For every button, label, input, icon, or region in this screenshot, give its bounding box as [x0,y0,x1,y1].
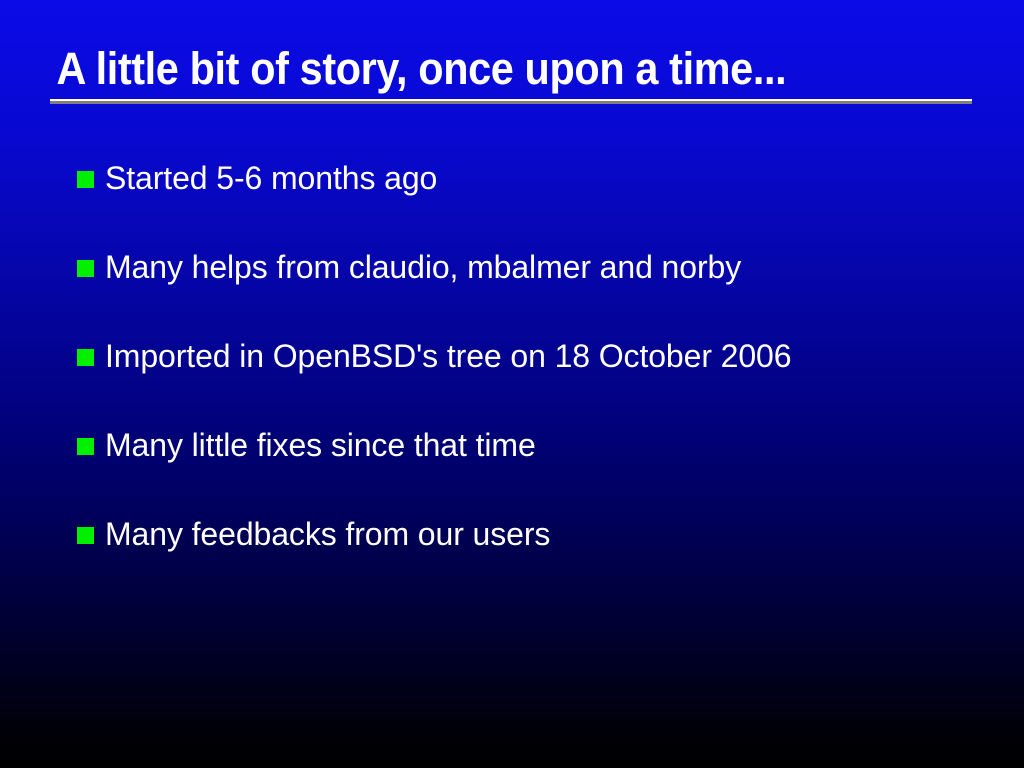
square-bullet-icon [77,349,94,366]
bullet-item-label: Many helps from claudio, mbalmer and nor… [105,249,977,285]
square-bullet-icon [77,260,94,277]
square-bullet-icon [77,171,94,188]
list-item: Imported in OpenBSD's tree on 18 October… [77,338,977,427]
list-item: Many feedbacks from our users [77,516,977,605]
square-bullet-icon [77,527,94,544]
slide-title: A little bit of story, once upon a time.… [50,44,898,94]
list-item: Many helps from claudio, mbalmer and nor… [77,249,977,338]
slide-title-block: A little bit of story, once upon a time.… [50,44,972,94]
title-underline-rule [50,99,972,104]
bullet-item-label: Many little fixes since that time [105,427,977,463]
presentation-slide: A little bit of story, once upon a time.… [0,0,1024,768]
bullet-item-label: Many feedbacks from our users [105,516,977,552]
list-item: Many little fixes since that time [77,427,977,516]
bullet-item-label: Started 5-6 months ago [105,160,977,196]
rule-shadow-line [50,101,972,104]
square-bullet-icon [77,438,94,455]
bullet-item-label: Imported in OpenBSD's tree on 18 October… [105,338,977,374]
list-item: Started 5-6 months ago [77,160,977,249]
bullet-list: Started 5-6 months ago Many helps from c… [77,160,977,605]
